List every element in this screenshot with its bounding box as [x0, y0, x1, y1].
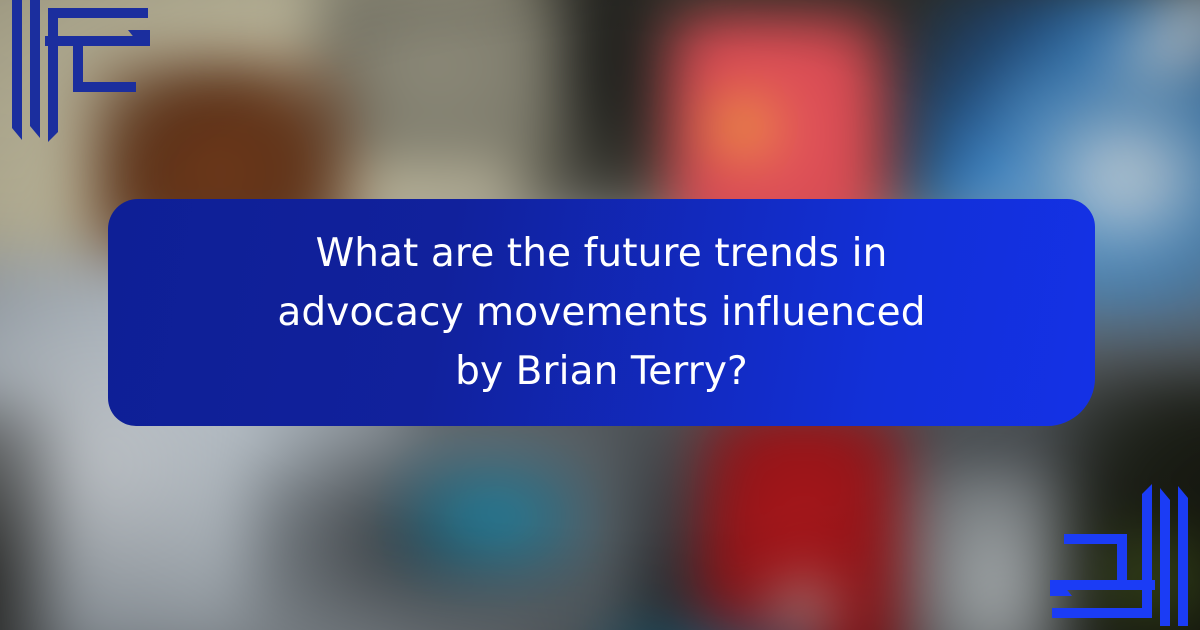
- headline-banner: What are the future trends in advocacy m…: [108, 199, 1095, 426]
- headline-text: What are the future trends in advocacy m…: [252, 224, 952, 402]
- bracket-corner-icon: [1050, 476, 1200, 626]
- corner-ornament-top-left: [0, 0, 150, 154]
- bracket-corner-icon: [0, 0, 150, 150]
- corner-ornament-bottom-right: [1050, 476, 1200, 630]
- social-card: What are the future trends in advocacy m…: [0, 0, 1200, 630]
